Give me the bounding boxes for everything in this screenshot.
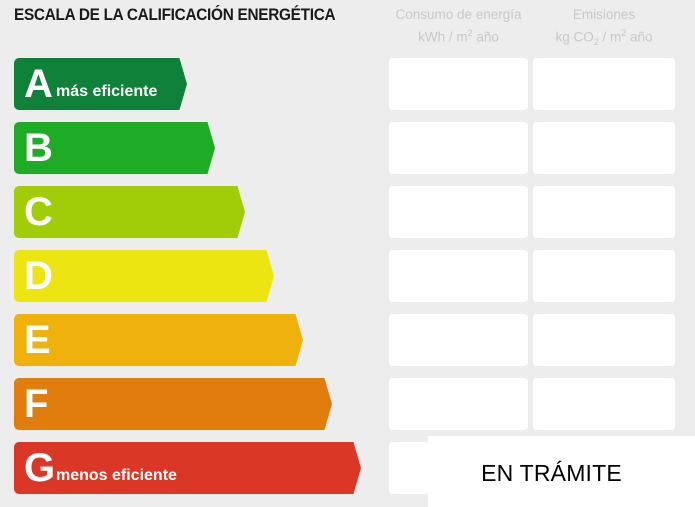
rating-row: C [0,186,695,238]
rating-band-g: Gmenos eficiente [14,442,335,494]
band-letter: C [24,192,53,232]
consumo-value-box [389,186,528,238]
status-overlay: EN TRÁMITE [428,436,695,507]
consumo-value-box [389,122,528,174]
emisiones-value-box [533,58,675,110]
rating-band-c: C [14,186,219,238]
band-arrow-icon [218,186,245,238]
band-letter: G [24,448,55,488]
rating-row: F [0,378,695,430]
band-letter: B [24,128,53,168]
rating-band-f: F [14,378,306,430]
scale-header: ESCALA DE LA CALIFICACIÓN ENERGÉTICA Con… [0,0,695,52]
band-letter: F [24,384,48,424]
status-badge: EN TRÁMITE [428,460,675,487]
rating-row: E [0,314,695,366]
band-note: menos eficiente [56,467,177,485]
rating-band-d: D [14,250,248,302]
consumo-value-box [389,378,528,430]
band-letter: E [24,320,51,360]
rating-band-e: E [14,314,277,366]
emisiones-value-box [533,186,675,238]
band-note: más eficiente [56,83,157,101]
consumo-value-box [389,250,528,302]
rating-band-a: Amás eficiente [14,58,161,110]
rating-band-b: B [14,122,189,174]
column-header-consumo-unit: kWh / m2 año [389,24,528,47]
emisiones-value-box [533,378,675,430]
band-arrow-icon [247,250,274,302]
emisiones-value-box [533,314,675,366]
band-arrow-icon [276,314,303,366]
band-letter: D [24,256,53,296]
column-header-emisiones-label: Emisiones [573,7,635,22]
band-arrow-icon [188,122,215,174]
band-arrow-icon [160,58,187,110]
rating-row: Amás eficiente [0,58,695,110]
rating-row: B [0,122,695,174]
column-header-consumo: Consumo de energía kWh / m2 año [389,6,528,47]
rating-row: D [0,250,695,302]
emisiones-value-box [533,250,675,302]
consumo-value-box [389,58,528,110]
energy-rating-scale: ESCALA DE LA CALIFICACIÓN ENERGÉTICA Con… [0,0,695,507]
column-header-emisiones: Emisiones kg CO2 / m2 año [533,6,675,51]
band-arrow-icon [305,378,332,430]
band-letter: A [24,64,53,104]
band-arrow-icon [334,442,361,494]
emisiones-value-box [533,122,675,174]
page-title: ESCALA DE LA CALIFICACIÓN ENERGÉTICA [14,6,335,25]
column-header-emisiones-unit: kg CO2 / m2 año [533,24,675,51]
consumo-value-box [389,314,528,366]
column-header-consumo-label: Consumo de energía [395,7,521,22]
